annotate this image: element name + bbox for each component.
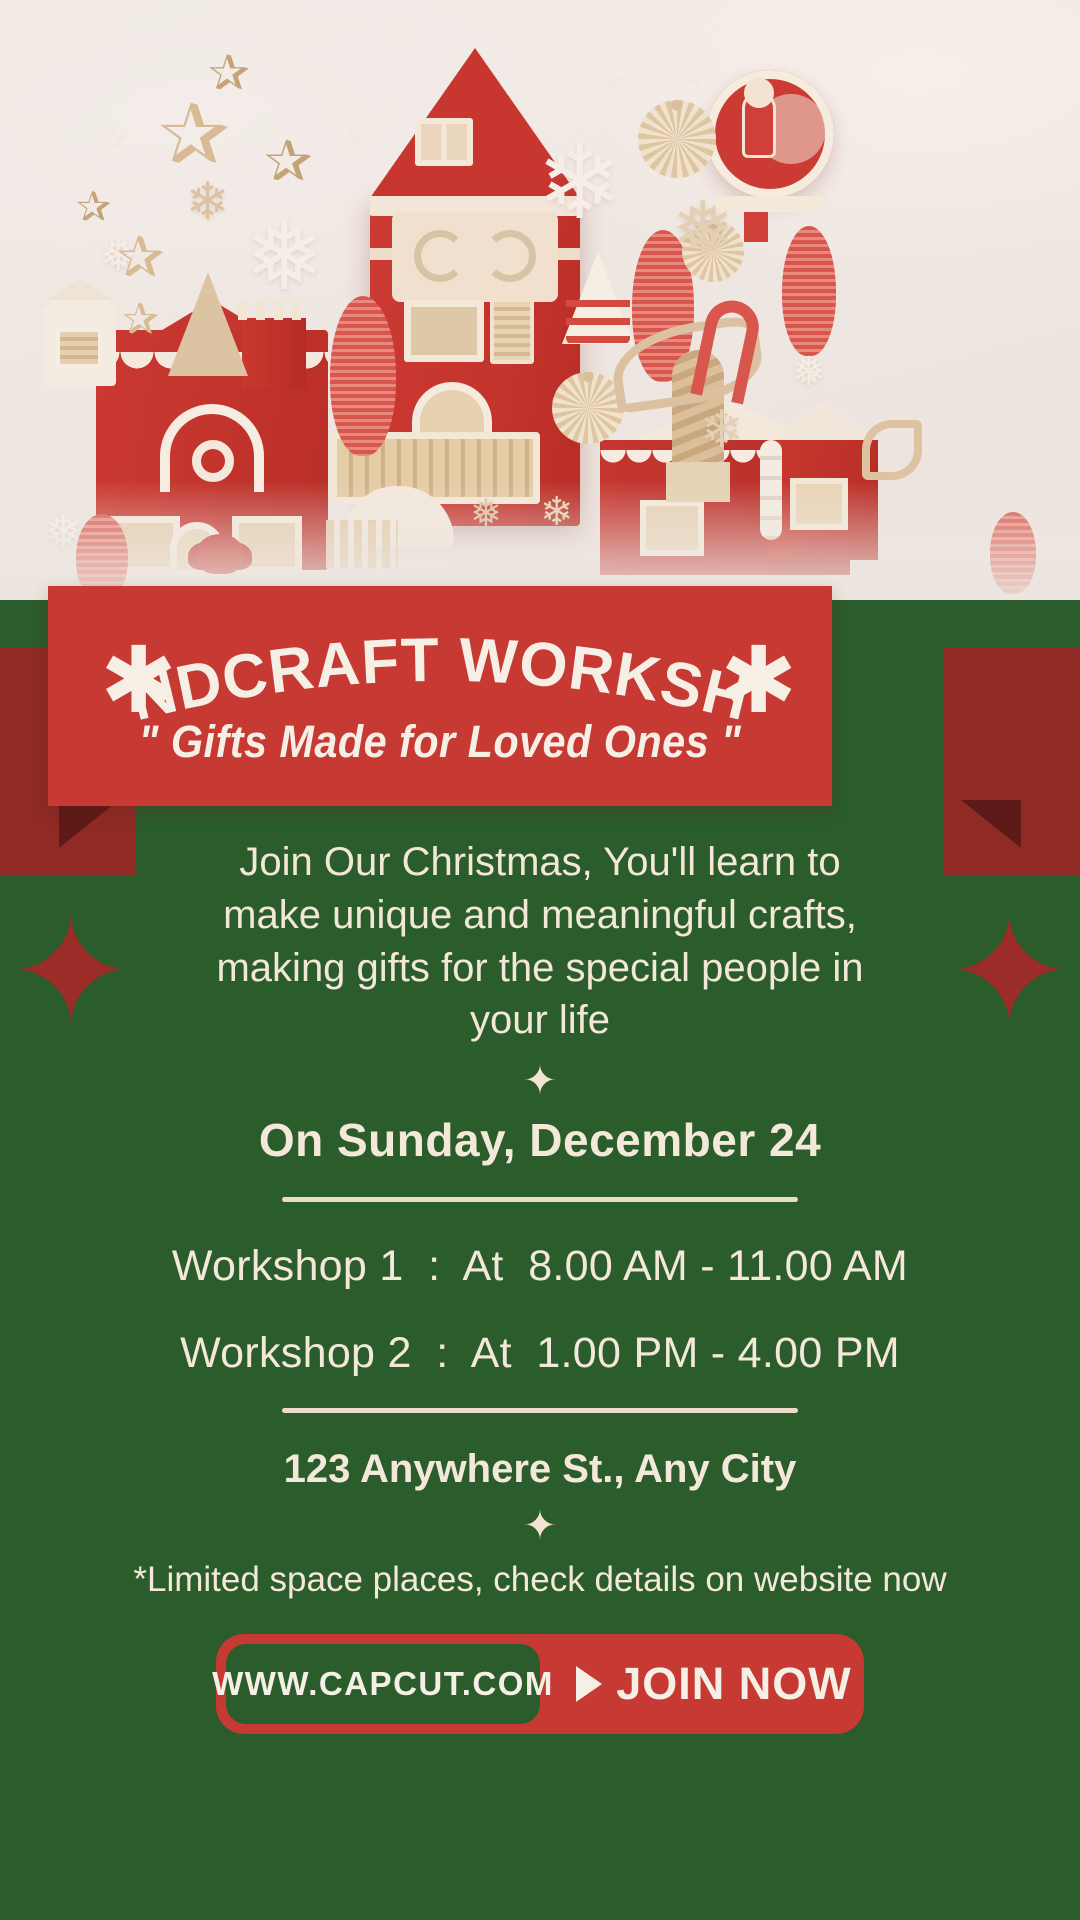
banner-content: ✱ ✱ HANDCRAFT WORKSHOP " Gifts Made for … — [48, 586, 832, 806]
ribbon-fold-right — [961, 800, 1021, 848]
star-icon: ✰ — [98, 122, 128, 158]
window-decor — [404, 300, 484, 362]
house-swirl-panel-decor — [392, 212, 558, 302]
bottlebrush-tree-decor — [782, 226, 836, 356]
snowflake-icon: ❅ — [244, 208, 324, 304]
schedule-separator: : — [428, 1242, 440, 1290]
join-now-label: JOIN NOW — [616, 1658, 852, 1710]
schedule-time: 1.00 PM - 4.00 PM — [536, 1329, 900, 1377]
window-decor — [415, 118, 473, 166]
title-ribbon: ✱ ✱ HANDCRAFT WORKSHOP " Gifts Made for … — [0, 586, 1080, 906]
star-icon: ✰ — [338, 126, 363, 156]
body-content: Join Our Christmas, You'll learn to make… — [0, 806, 1080, 1734]
star-icon: ✰ — [116, 228, 165, 286]
schedule-at: At — [471, 1329, 512, 1377]
snowflake-icon: ❄ — [700, 404, 744, 456]
event-date: On Sunday, December 24 — [0, 1113, 1080, 1167]
schedule-at: At — [462, 1242, 503, 1290]
join-now-button[interactable]: JOIN NOW — [564, 1634, 864, 1734]
window-decor — [56, 328, 102, 368]
swirl-decor — [484, 230, 536, 282]
swirl-decor — [414, 230, 466, 282]
star-icon: ✰ — [680, 62, 705, 92]
hero-fade-overlay — [0, 480, 1080, 600]
snowflake-icon: ❄ — [536, 130, 623, 234]
poster-title: HANDCRAFT WORKSHOP — [48, 608, 832, 728]
sparkle-divider-2: ✦ — [0, 1506, 1080, 1546]
star-icon: ✰ — [158, 92, 230, 178]
sparkle-divider-1: ✦ — [0, 1061, 1080, 1101]
turret-decor — [242, 318, 306, 388]
schedule-time: 8.00 AM - 11.00 AM — [528, 1242, 908, 1290]
hero-image: ❅ ❄ ❅ ❄ ❅ ❅ ❄ ❅ ❄ ❅ ✰ ✰ ✰ ✰ ✰ ✰ ✰ ✰ ✰ ✰ … — [0, 0, 1080, 600]
address-text: 123 Anywhere St., Any City — [0, 1447, 1080, 1492]
star-icon: ✰ — [208, 48, 250, 98]
schedule-label: Workshop 1 — [172, 1242, 404, 1290]
candy-cane-decor — [690, 295, 764, 404]
bottlebrush-tree-decor — [330, 296, 396, 456]
shutter-decor — [490, 298, 534, 364]
figurine-head-decor — [744, 78, 774, 108]
ribbon-fold-left — [59, 800, 119, 848]
circle-decor — [192, 440, 234, 482]
cone-tree-decor — [168, 272, 248, 376]
doily-decor — [638, 100, 716, 178]
schedule-row-1: Workshop 1 : At 8.00 AM - 11.00 AM — [0, 1242, 1080, 1291]
ornament-bracket-decor — [744, 212, 768, 242]
star-icon: ✰ — [122, 298, 159, 342]
star-icon: ✰ — [596, 64, 625, 98]
striped-cone-decor — [566, 300, 630, 344]
star-icon: ✰ — [76, 186, 111, 228]
cta-bar[interactable]: WWW.CAPCUT.COM JOIN NOW — [216, 1634, 864, 1734]
body-panel: ✦ ✦ Join Our Christmas, You'll learn to … — [0, 806, 1080, 1920]
schedule-row-2: Workshop 2 : At 1.00 PM - 4.00 PM — [0, 1329, 1080, 1378]
leaf-ornament-decor — [862, 420, 922, 480]
poster-subtitle: " Gifts Made for Loved Ones " — [79, 716, 800, 768]
note-text: *Limited space places, check details on … — [0, 1560, 1080, 1600]
website-url-button[interactable]: WWW.CAPCUT.COM — [222, 1640, 544, 1728]
divider-rule-top — [282, 1197, 798, 1202]
divider-rule-bottom — [282, 1408, 798, 1413]
star-icon: ✰ — [796, 360, 819, 388]
play-triangle-icon — [576, 1666, 602, 1702]
snowflake-icon: ❅ — [672, 192, 734, 266]
schedule-label: Workshop 2 — [180, 1329, 412, 1377]
rocking-horse-icon: ✰ — [264, 132, 313, 190]
svg-text:HANDCRAFT WORKSHOP: HANDCRAFT WORKSHOP — [48, 608, 756, 728]
schedule-separator: : — [436, 1329, 448, 1377]
